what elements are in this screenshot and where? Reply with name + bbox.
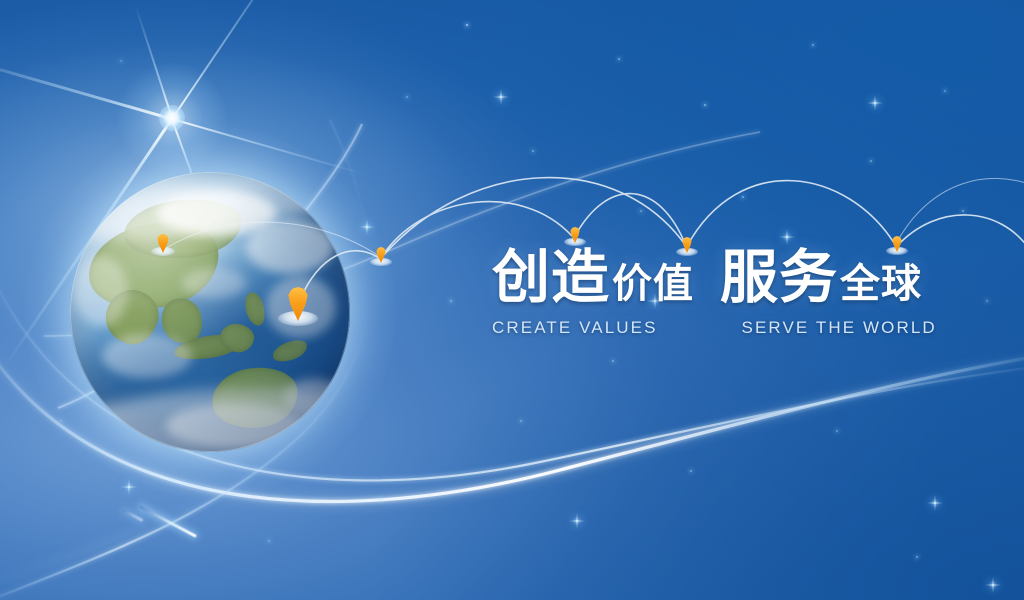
hero-banner: 创造 价值 服务 全球 CREATE VALUES SERVE THE WORL… [0, 0, 1024, 600]
background-vignette [0, 0, 1024, 600]
